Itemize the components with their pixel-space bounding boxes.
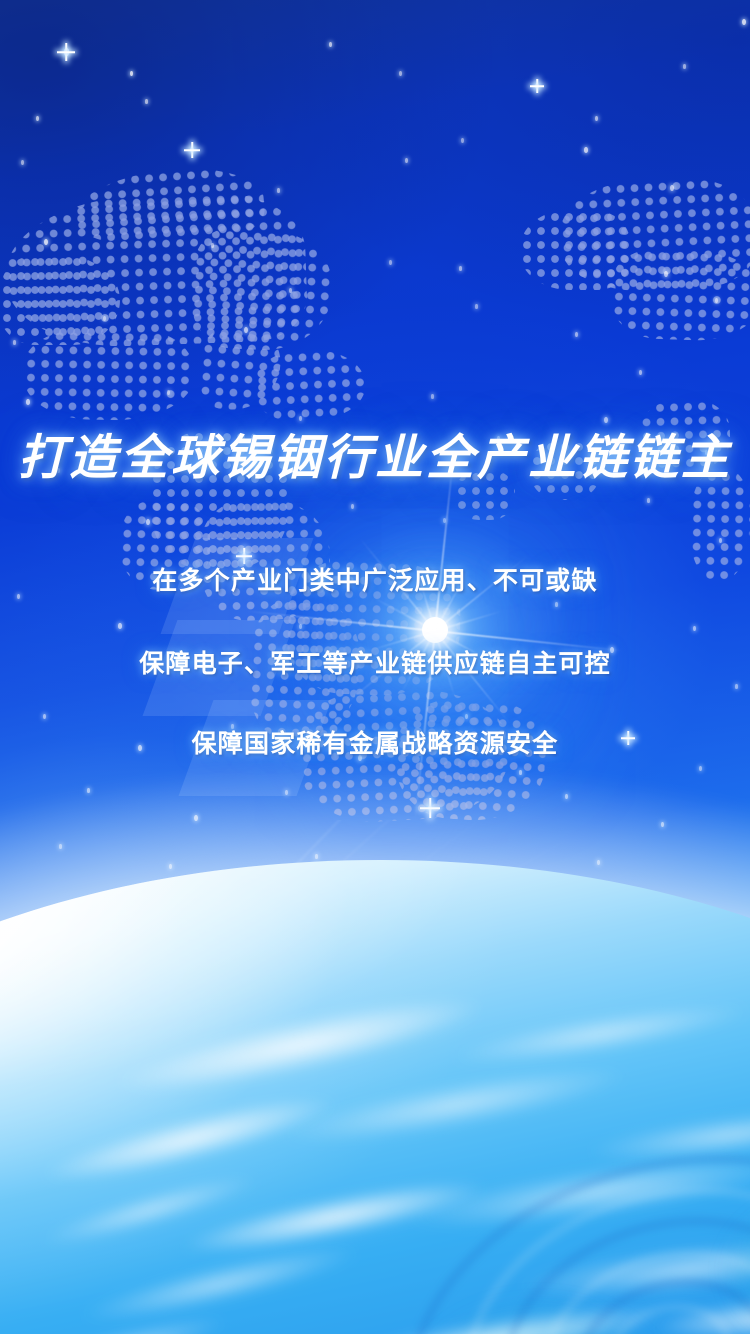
star-sparkle xyxy=(431,394,434,399)
landmass-12 xyxy=(520,210,630,290)
star-sparkle xyxy=(289,288,292,293)
star-sparkle xyxy=(329,42,332,47)
earth-surface xyxy=(0,860,750,1334)
page-title: 打造全球锡铟行业全产业链链主 xyxy=(0,425,750,491)
star-sparkle xyxy=(647,498,650,503)
star-sparkle xyxy=(36,116,39,121)
star-sparkle xyxy=(735,684,738,689)
star-sparkle xyxy=(64,48,69,56)
star-sparkle xyxy=(167,390,170,395)
star-sparkle xyxy=(555,602,558,607)
star-sparkle xyxy=(43,714,46,719)
star-sparkle xyxy=(399,71,402,76)
star-sparkle xyxy=(683,64,686,69)
star-sparkle xyxy=(299,416,302,421)
star-sparkle xyxy=(595,116,598,121)
star-sparkle xyxy=(575,332,578,337)
star-sparkle xyxy=(405,158,408,163)
star-sparkle xyxy=(719,538,722,543)
star-sparkle xyxy=(277,188,280,193)
star-sparkle xyxy=(21,160,24,165)
subtitle-line-1: 在多个产业门类中广泛应用、不可或缺 xyxy=(0,561,750,597)
promotional-poster: 打造全球锡铟行业全产业链链主 在多个产业门类中广泛应用、不可或缺 保障电子、军工… xyxy=(0,0,750,1334)
star-sparkle xyxy=(299,624,302,629)
landmass-6 xyxy=(253,347,367,423)
landmass-11 xyxy=(610,247,750,342)
subtitle-line-3: 保障国家稀有金属战略资源安全 xyxy=(0,724,750,760)
landmass-4 xyxy=(23,329,195,422)
star-sparkle xyxy=(639,370,642,375)
star-sparkle xyxy=(475,304,478,309)
star-sparkle xyxy=(211,243,214,248)
star-sparkle xyxy=(103,316,106,321)
star-sparkle xyxy=(145,99,148,104)
star-sparkle xyxy=(715,298,718,303)
star-sparkle xyxy=(351,504,354,509)
star-sparkle xyxy=(459,266,462,271)
subtitle-line-2: 保障电子、军工等产业链供应链自主可控 xyxy=(0,644,750,680)
star-sparkle xyxy=(389,260,392,265)
star-sparkle xyxy=(693,626,696,631)
star-sparkle xyxy=(130,71,133,76)
star-sparkle xyxy=(13,340,16,345)
star-sparkle xyxy=(461,138,464,143)
